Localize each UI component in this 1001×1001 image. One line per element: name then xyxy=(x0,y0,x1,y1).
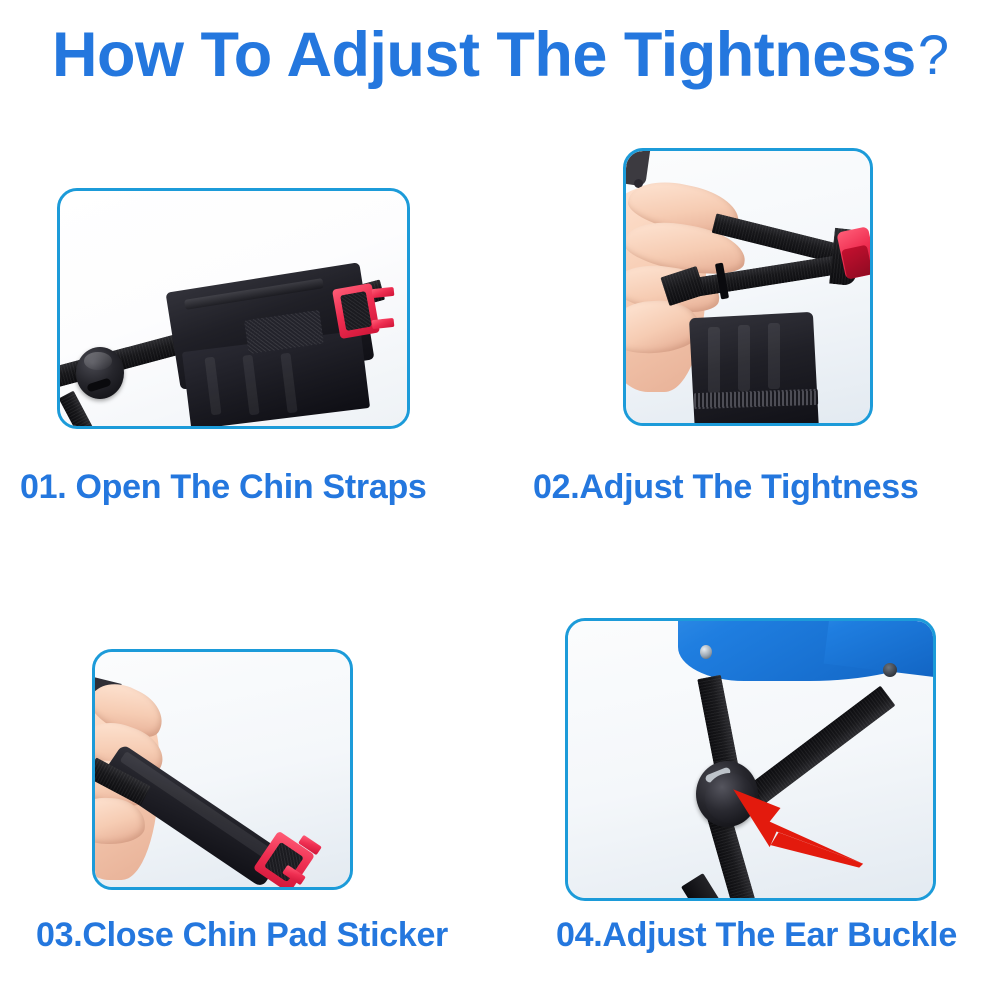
chin-pad-on-table-ridge-3 xyxy=(768,323,780,389)
helmet-rivet-left xyxy=(700,645,712,659)
ear-buckle-knob xyxy=(705,773,755,823)
photo-frame-01[interactable] xyxy=(57,188,410,429)
photo-close-chin-pad-sticker xyxy=(95,652,350,887)
question-mark: ? xyxy=(918,23,949,86)
step-caption-01: 01. Open The Chin Straps xyxy=(20,470,427,504)
step-caption-03: 03.Close Chin Pad Sticker xyxy=(36,918,448,952)
red-buckle-shadow xyxy=(841,245,870,280)
chin-pad-on-table-ridge-1 xyxy=(708,327,720,393)
photo-frame-04[interactable] xyxy=(565,618,936,901)
step-caption-04: 04.Adjust The Ear Buckle xyxy=(556,918,957,952)
photo-adjust-tightness xyxy=(626,151,870,423)
page-title: How To Adjust The Tightness? xyxy=(0,24,1001,87)
photo-open-chin-straps xyxy=(60,191,407,426)
photo-frame-03[interactable] xyxy=(92,649,353,890)
photo-frame-02[interactable] xyxy=(623,148,873,426)
photo-adjust-ear-buckle xyxy=(568,621,933,898)
chin-pad-on-table-ridge-2 xyxy=(738,325,750,391)
page-title-text: How To Adjust The Tightness xyxy=(52,20,916,90)
step-caption-02: 02.Adjust The Tightness xyxy=(533,470,918,504)
helmet-rivet-right xyxy=(883,663,897,677)
ear-buckle-highlight xyxy=(84,352,112,370)
